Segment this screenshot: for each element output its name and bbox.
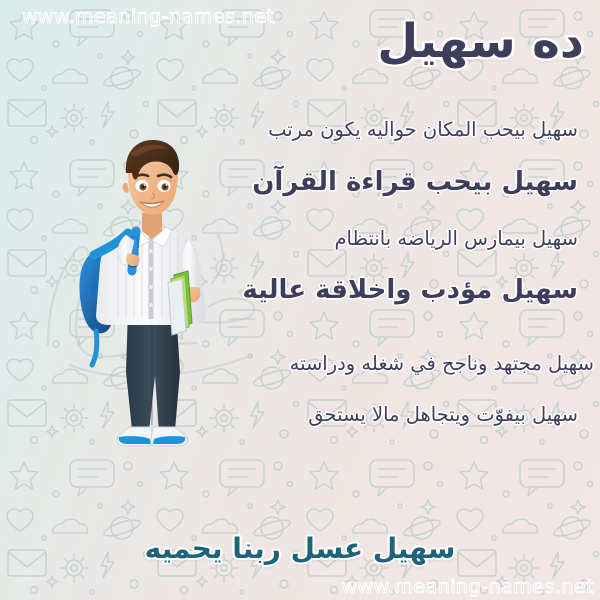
attribute-list: سهيل بيحب المكان حواليه يكون مرتب سهيل ب… [0,118,586,426]
list-item: سهيل مجتهد وناجح في شغله ودراسته [0,352,600,375]
blessing-text: سهيل عسل ربنا يحميه [0,532,600,565]
watermark-top-left: www.meaning-names.net [22,6,275,28]
list-item: سهيل مؤدب واخلاقة عالية [0,275,586,305]
name-meaning-card: www.meaning-names.net ده سهيل [0,0,600,600]
watermark-bottom-right: www.meaning-names.net [341,576,594,598]
page-title: ده سهيل [377,14,584,69]
list-item: سهيل بيحب قراءة القرآن [0,167,586,197]
list-item: سهيل بيمارس الرياضه بانتظام [0,227,586,250]
list-item: سهيل بيحب المكان حواليه يكون مرتب [0,118,586,141]
list-item: سهيل بيفوّت ويتجاهل مالا يستحق [0,403,586,426]
